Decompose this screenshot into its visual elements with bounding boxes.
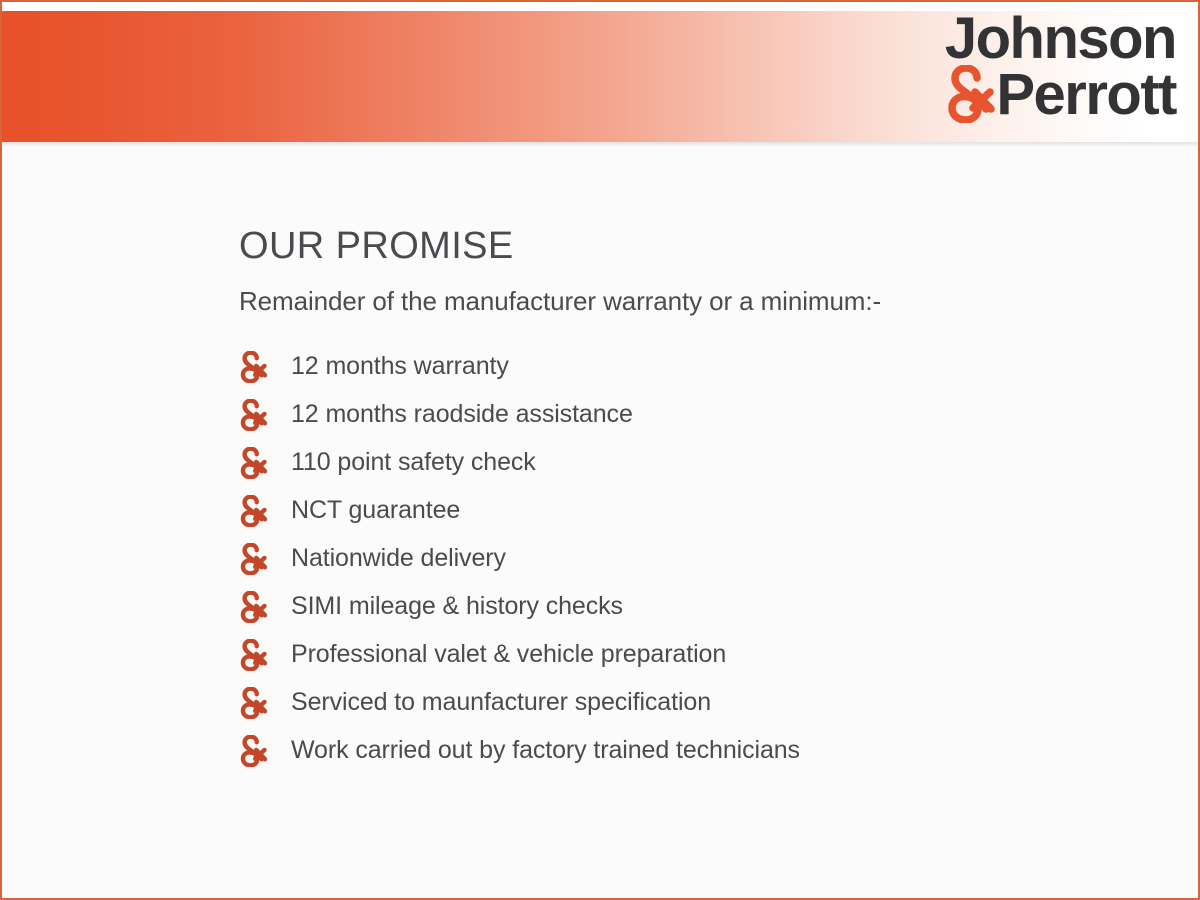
list-item-label: 110 point safety check	[291, 449, 536, 477]
logo-word-perrott: Perrott	[996, 68, 1176, 121]
logo-line-perrott: Perrott	[886, 65, 1176, 123]
ampersand-bullet-icon	[239, 495, 269, 527]
ampersand-bullet-icon	[239, 447, 269, 479]
ampersand-bullet-icon	[239, 399, 269, 431]
page-title: OUR PROMISE	[239, 226, 1138, 268]
header-shadow	[2, 142, 1198, 147]
list-item-label: 12 months raodside assistance	[291, 401, 633, 429]
ampersand-bullet-icon	[239, 735, 269, 767]
page-subtitle: Remainder of the manufacturer warranty o…	[239, 286, 1138, 317]
johnson-perrott-logo: Johnson Perrott	[886, 12, 1176, 123]
list-item-label: Nationwide delivery	[291, 545, 506, 573]
list-item-label: NCT guarantee	[291, 497, 460, 525]
logo-line-johnson: Johnson	[886, 12, 1176, 65]
list-item: 110 point safety check	[239, 439, 1138, 487]
list-item-label: SIMI mileage & history checks	[291, 593, 623, 621]
ampersand-bullet-icon	[239, 687, 269, 719]
ampersand-bullet-icon	[239, 543, 269, 575]
list-item: Serviced to maunfacturer specification	[239, 679, 1138, 727]
ampersand-bullet-icon	[239, 639, 269, 671]
promise-list: 12 months warranty 12 months raodside as…	[239, 343, 1138, 775]
promise-content: OUR PROMISE Remainder of the manufacture…	[239, 226, 1138, 775]
list-item: Professional valet & vehicle preparation	[239, 631, 1138, 679]
list-item-label: Serviced to maunfacturer specification	[291, 689, 711, 717]
list-item: 12 months raodside assistance	[239, 391, 1138, 439]
ampersand-icon	[946, 65, 998, 123]
list-item-label: Work carried out by factory trained tech…	[291, 737, 800, 765]
promise-slide: Johnson Perrott OUR PROMISE Remainder of…	[0, 0, 1200, 900]
list-item: NCT guarantee	[239, 487, 1138, 535]
list-item-label: Professional valet & vehicle preparation	[291, 641, 726, 669]
list-item: Work carried out by factory trained tech…	[239, 727, 1138, 775]
ampersand-bullet-icon	[239, 591, 269, 623]
ampersand-bullet-icon	[239, 351, 269, 383]
list-item: Nationwide delivery	[239, 535, 1138, 583]
list-item: SIMI mileage & history checks	[239, 583, 1138, 631]
list-item-label: 12 months warranty	[291, 353, 509, 381]
list-item: 12 months warranty	[239, 343, 1138, 391]
